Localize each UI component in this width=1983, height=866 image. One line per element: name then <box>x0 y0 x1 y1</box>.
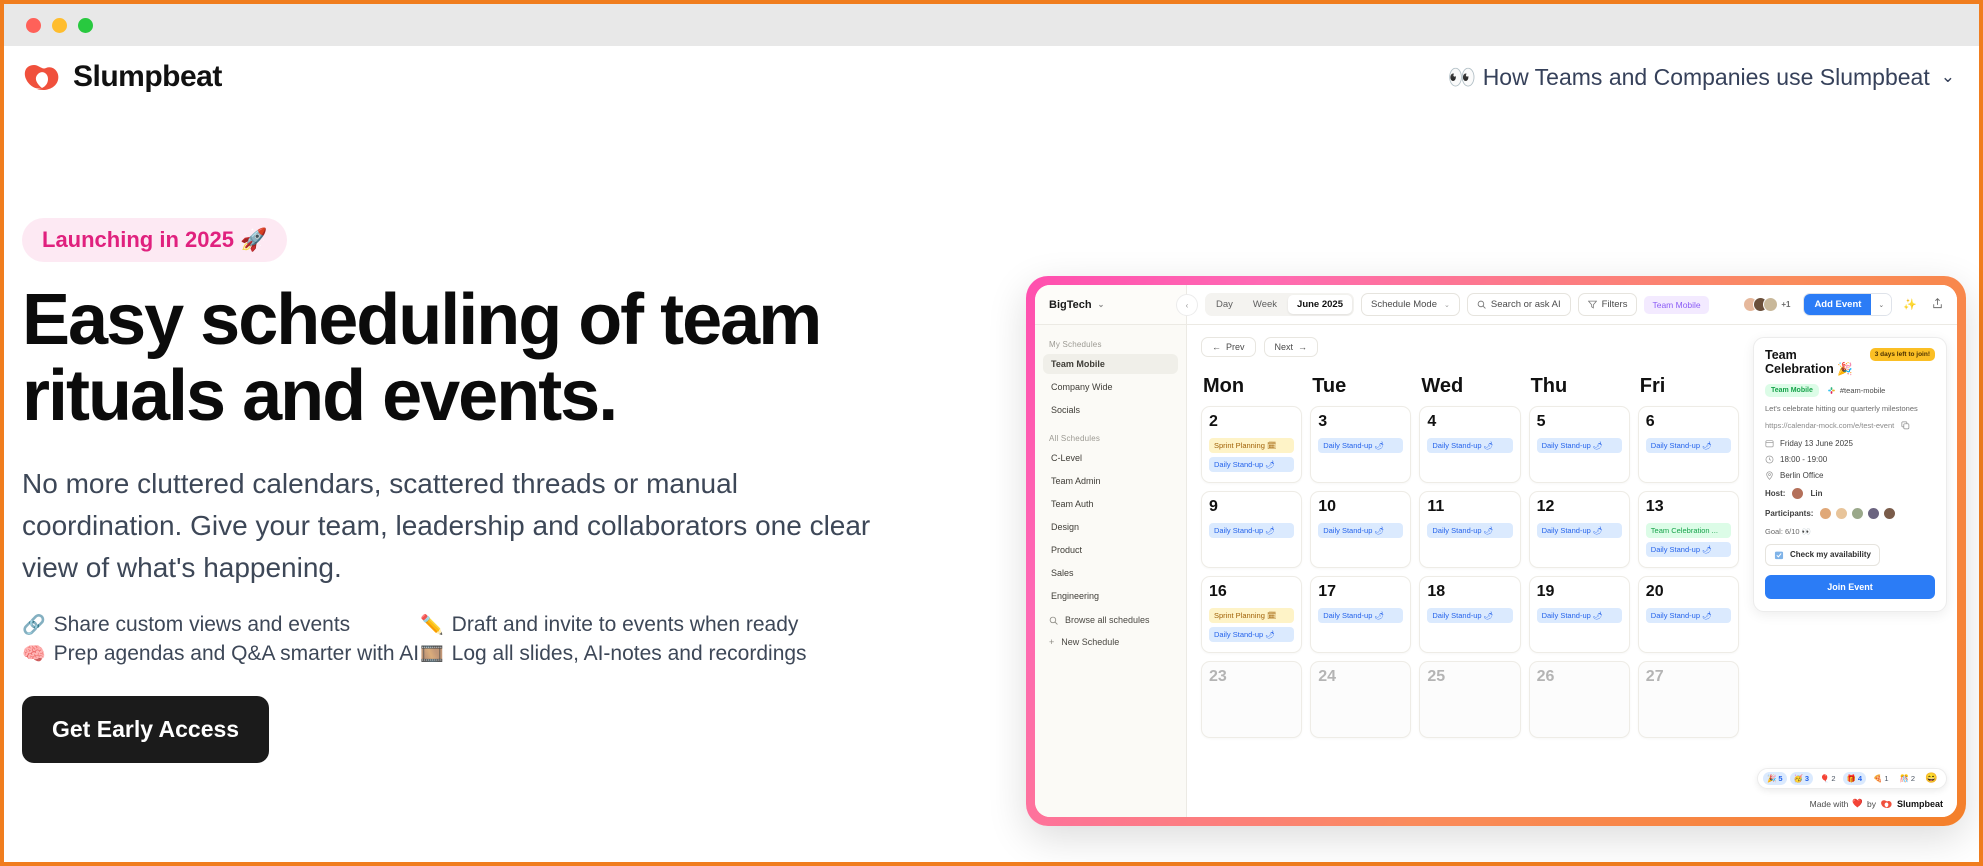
next-button[interactable]: Next → <box>1264 337 1319 357</box>
calendar-event-chip[interactable]: Daily Stand-up 🌶 <box>1646 608 1731 623</box>
made-with-by: by <box>1867 799 1876 809</box>
search-placeholder: Search or ask AI <box>1491 299 1561 310</box>
calendar-event-chip[interactable]: Daily Stand-up 🌶 <box>1646 438 1731 453</box>
calendar-event-chip[interactable]: Team Celebration ... <box>1646 523 1731 538</box>
app-body: My Schedules Team Mobile Company Wide So… <box>1035 325 1957 817</box>
calendar-event-chip[interactable]: Daily Stand-up 🌶 <box>1427 608 1512 623</box>
upload-icon <box>1932 298 1943 309</box>
next-label: Next <box>1275 342 1294 352</box>
prev-label: Prev <box>1226 342 1245 352</box>
feature-label: Prep agendas and Q&A smarter with AI <box>54 642 419 666</box>
reaction-emoji-icon: 🎉 <box>1767 774 1776 783</box>
sidebar-item-product[interactable]: Product <box>1043 540 1178 560</box>
calendar-day-cell[interactable]: 26 <box>1529 661 1630 738</box>
event-time: 18:00 - 19:00 <box>1780 455 1827 464</box>
day-number: 26 <box>1537 669 1622 685</box>
calendar-grid: ← Prev Next → Mon Tue Wed Thu Fri <box>1187 325 1749 817</box>
event-title-row: Team Celebration 🎉 3 days left to join! <box>1765 348 1935 377</box>
check-availability-label: Check my availability <box>1790 550 1871 559</box>
made-with-brand: Slumpbeat <box>1897 799 1943 809</box>
feature-label: Draft and invite to events when ready <box>452 613 799 637</box>
sidebar-item-team-mobile[interactable]: Team Mobile <box>1043 354 1178 374</box>
chevron-down-icon[interactable]: ⌄ <box>1871 294 1891 315</box>
calendar-day-cell[interactable]: 3Daily Stand-up 🌶 <box>1310 406 1411 483</box>
host-name: Lin <box>1810 489 1822 498</box>
day-number: 11 <box>1427 499 1512 515</box>
arrow-left-icon: ← <box>1212 342 1221 352</box>
page-title: Easy scheduling of team rituals and even… <box>22 282 952 435</box>
chevron-down-icon: ⌄ <box>1444 301 1450 309</box>
host-label: Host: <box>1765 489 1785 498</box>
day-number: 12 <box>1537 499 1622 515</box>
reaction-count: 2 <box>1911 774 1915 783</box>
calendar-event-chip[interactable]: Daily Stand-up 🌶 <box>1537 608 1622 623</box>
reaction-chip[interactable]: 🥳3 <box>1790 772 1814 785</box>
calendar-event-chip[interactable]: Daily Stand-up 🌶 <box>1209 523 1294 538</box>
slumpbeat-logo-icon <box>1880 799 1893 809</box>
day-number: 24 <box>1318 669 1403 685</box>
calendar-event-chip[interactable]: Daily Stand-up 🌶 <box>1537 523 1622 538</box>
reaction-chip[interactable]: 🎈2 <box>1816 772 1840 785</box>
calendar-day-cell[interactable]: 24 <box>1310 661 1411 738</box>
participants-label: Participants: <box>1765 509 1813 518</box>
header-nav-link[interactable]: 👀 How Teams and Companies use Slumpbeat … <box>1448 64 1955 91</box>
list-item: 🧠 Prep agendas and Q&A smarter with AI <box>22 642 412 666</box>
event-date: Friday 13 June 2025 <box>1780 439 1853 448</box>
made-with-prefix: Made with <box>1810 799 1849 809</box>
avatar <box>1791 487 1804 500</box>
feature-list: 🔗 Share custom views and events ✏️ Draft… <box>22 613 1004 666</box>
calendar-day-cell[interactable]: 27 <box>1638 661 1739 738</box>
calendar-day-cell[interactable]: 20Daily Stand-up 🌶 <box>1638 576 1739 653</box>
reaction-emoji-icon: 🍕 <box>1873 774 1882 783</box>
calendar-check-icon <box>1774 550 1784 560</box>
chevron-down-icon: ⌄ <box>1941 67 1955 87</box>
calendar-day-cell[interactable]: 5Daily Stand-up 🌶 <box>1529 406 1630 483</box>
location-pin-icon <box>1765 471 1774 480</box>
calendar-week-row: 2Sprint Planning 🗓Daily Stand-up 🌶3Daily… <box>1201 406 1739 483</box>
maximize-window-icon[interactable] <box>78 18 93 33</box>
calendar-event-chip[interactable]: Daily Stand-up 🌶 <box>1318 608 1403 623</box>
day-number: 4 <box>1427 414 1512 430</box>
calendar-day-cell[interactable]: 25 <box>1419 661 1520 738</box>
sidebar-item-sales[interactable]: Sales <box>1043 563 1178 583</box>
event-link[interactable]: https://calendar-mock.com/e/test-event <box>1765 421 1894 430</box>
share-upload-icon[interactable] <box>1928 298 1947 312</box>
calendar-event-chip[interactable]: Daily Stand-up 🌶 <box>1427 438 1512 453</box>
day-number: 5 <box>1537 414 1622 430</box>
reaction-emoji-icon: 🎊 <box>1900 774 1909 783</box>
avatar <box>1763 297 1778 312</box>
event-detail-panel: Team Celebration 🎉 3 days left to join! … <box>1749 325 1957 817</box>
event-time-row: 18:00 - 19:00 <box>1765 455 1935 464</box>
search-icon <box>1049 616 1058 625</box>
reaction-emoji-icon: 🥳 <box>1794 774 1803 783</box>
clock-icon <box>1765 455 1774 464</box>
sidebar-group-my-schedules-label: My Schedules <box>1043 334 1178 354</box>
day-number: 23 <box>1209 669 1294 685</box>
day-name-row: Mon Tue Wed Thu Fri <box>1201 375 1739 406</box>
event-goal: Goal: 6/10 👀 <box>1765 527 1935 536</box>
calendar-icon <box>1765 439 1774 448</box>
day-number: 20 <box>1646 584 1731 600</box>
slack-icon <box>1827 386 1836 395</box>
hero-left-column: Launching in 2025 🚀 Easy scheduling of t… <box>4 108 1004 763</box>
day-number: 25 <box>1427 669 1512 685</box>
event-link-row: https://calendar-mock.com/e/test-event <box>1765 421 1935 430</box>
avatar <box>1851 507 1864 520</box>
reaction-count: 4 <box>1858 774 1862 783</box>
day-number: 2 <box>1209 414 1294 430</box>
calendar-week-row: 9Daily Stand-up 🌶10Daily Stand-up 🌶11Dai… <box>1201 491 1739 568</box>
day-name-wed: Wed <box>1419 375 1520 398</box>
reaction-chip[interactable]: 🎉5 <box>1763 772 1787 785</box>
app-mockup-frame: BigTech ⌄ ‹ Day Week June 2025 Schedule … <box>1026 276 1966 826</box>
calendar-day-cell[interactable]: 12Daily Stand-up 🌶 <box>1529 491 1630 568</box>
avatar <box>1867 507 1880 520</box>
collapse-sidebar-button[interactable]: ‹ <box>1176 294 1198 316</box>
calendar-day-cell[interactable]: 19Daily Stand-up 🌶 <box>1529 576 1630 653</box>
brain-icon: 🧠 <box>22 642 46 666</box>
sidebar-item-design[interactable]: Design <box>1043 517 1178 537</box>
reaction-emoji-icon: 🎁 <box>1847 774 1856 783</box>
browse-all-schedules-button[interactable]: Browse all schedules <box>1043 609 1178 631</box>
day-number: 13 <box>1646 499 1731 515</box>
page-root: { "window": { "dots": ["close", "minimiz… <box>0 0 1983 866</box>
event-title: Team Celebration 🎉 <box>1765 348 1864 377</box>
search-input[interactable]: Search or ask AI <box>1467 293 1571 316</box>
reaction-chip[interactable]: 🎊2 <box>1896 772 1920 785</box>
schedule-mode-label: Schedule Mode <box>1371 299 1437 310</box>
view-mode-tabs: Day Week June 2025 <box>1205 293 1354 316</box>
sidebar-item-company-wide[interactable]: Company Wide <box>1043 377 1178 397</box>
arrow-right-icon: → <box>1298 342 1307 352</box>
new-schedule-button[interactable]: + New Schedule <box>1043 631 1178 653</box>
day-number: 19 <box>1537 584 1622 600</box>
day-number: 16 <box>1209 584 1294 600</box>
day-name-mon: Mon <box>1201 375 1302 398</box>
filter-icon <box>1588 300 1597 309</box>
calendar-day-cell[interactable]: 11Daily Stand-up 🌶 <box>1419 491 1520 568</box>
reaction-chip[interactable]: 🎁4 <box>1843 772 1867 785</box>
team-filter-chip[interactable]: Team Mobile <box>1644 296 1708 314</box>
feature-label: Log all slides, AI-notes and recordings <box>452 642 807 666</box>
app-toolbar: BigTech ⌄ ‹ Day Week June 2025 Schedule … <box>1035 285 1957 325</box>
join-event-button[interactable]: Join Event <box>1765 575 1935 599</box>
tab-week[interactable]: Week <box>1244 295 1286 314</box>
heart-icon: ❤️ <box>1852 798 1863 809</box>
sidebar-item-engineering[interactable]: Engineering <box>1043 586 1178 606</box>
plus-icon: + <box>1049 637 1054 647</box>
prev-button[interactable]: ← Prev <box>1201 337 1256 357</box>
calendar-day-cell[interactable]: 2Sprint Planning 🗓Daily Stand-up 🌶 <box>1201 406 1302 483</box>
calendar-day-cell[interactable]: 18Daily Stand-up 🌶 <box>1419 576 1520 653</box>
browse-label: Browse all schedules <box>1065 615 1150 625</box>
calendar-day-cell[interactable]: 13Team Celebration ...Daily Stand-up 🌶 <box>1638 491 1739 568</box>
avatar <box>1835 507 1848 520</box>
day-number: 27 <box>1646 669 1731 685</box>
calendar-weeks: 2Sprint Planning 🗓Daily Stand-up 🌶3Daily… <box>1201 406 1739 738</box>
sparkle-icon[interactable]: ✨ <box>1899 298 1921 311</box>
app-mockup: BigTech ⌄ ‹ Day Week June 2025 Schedule … <box>1035 285 1957 817</box>
film-frames-icon: 🎞️ <box>420 642 444 666</box>
filters-label: Filters <box>1602 299 1628 310</box>
calendar-day-cell[interactable]: 6Daily Stand-up 🌶 <box>1638 406 1739 483</box>
day-name-fri: Fri <box>1638 375 1739 398</box>
calendar-event-chip[interactable]: Daily Stand-up 🌶 <box>1209 627 1294 642</box>
get-early-access-button[interactable]: Get Early Access <box>22 696 269 763</box>
day-number: 17 <box>1318 584 1403 600</box>
day-number: 9 <box>1209 499 1294 515</box>
app-sidebar: My Schedules Team Mobile Company Wide So… <box>1035 325 1187 817</box>
event-description: Let's celebrate hitting our quarterly mi… <box>1765 404 1935 414</box>
tab-day[interactable]: Day <box>1207 295 1242 314</box>
reaction-bar: 🎉5🥳3🎈2🎁4🍕1🎊2😄 <box>1757 768 1947 789</box>
chevron-down-icon: ⌄ <box>1098 300 1105 309</box>
calendar-day-cell[interactable]: 10Daily Stand-up 🌶 <box>1310 491 1411 568</box>
sidebar-item-team-admin[interactable]: Team Admin <box>1043 471 1178 491</box>
list-item: ✏️ Draft and invite to events when ready <box>420 613 1004 637</box>
link-icon: 🔗 <box>22 613 46 637</box>
window-titlebar <box>4 4 1979 46</box>
add-event-group: Add Event ⌄ <box>1803 293 1892 316</box>
sidebar-group-all-schedules-label: All Schedules <box>1043 428 1178 448</box>
site-header: Slumpbeat 👀 How Teams and Companies use … <box>4 46 1979 108</box>
made-with-footer: Made with ❤️ by Slumpbeat <box>1810 798 1943 809</box>
search-icon <box>1477 300 1486 309</box>
new-schedule-label: New Schedule <box>1061 637 1119 647</box>
add-reaction-button[interactable]: 😄 <box>1922 772 1940 785</box>
tab-month[interactable]: June 2025 <box>1288 295 1352 314</box>
calendar-event-chip[interactable]: Daily Stand-up 🌶 <box>1318 523 1403 538</box>
event-participants-row: Participants: <box>1765 507 1935 520</box>
app-main: ← Prev Next → Mon Tue Wed Thu Fri <box>1187 325 1957 817</box>
sidebar-item-c-level[interactable]: C-Level <box>1043 448 1178 468</box>
day-name-thu: Thu <box>1529 375 1630 398</box>
calendar-event-chip[interactable]: Daily Stand-up 🌶 <box>1646 542 1731 557</box>
minimize-window-icon[interactable] <box>52 18 67 33</box>
avatar <box>1819 507 1832 520</box>
add-event-button[interactable]: Add Event <box>1804 294 1871 315</box>
status-badge: 3 days left to join! <box>1870 348 1935 361</box>
calendar-day-cell[interactable]: 4Daily Stand-up 🌶 <box>1419 406 1520 483</box>
day-number: 10 <box>1318 499 1403 515</box>
schedule-mode-dropdown[interactable]: Schedule Mode ⌄ <box>1361 293 1460 316</box>
hero-subtitle: No more cluttered calendars, scattered t… <box>22 463 882 589</box>
reaction-count: 5 <box>1778 774 1782 783</box>
header-nav-label: 👀 How Teams and Companies use Slumpbeat <box>1448 64 1930 91</box>
event-detail-card: Team Celebration 🎉 3 days left to join! … <box>1753 337 1947 612</box>
event-location-row: Berlin Office <box>1765 471 1935 480</box>
calendar-event-chip[interactable]: Sprint Planning 🗓 <box>1209 438 1294 453</box>
attendee-avatars[interactable]: +1 <box>1743 297 1790 312</box>
org-name: BigTech <box>1049 299 1092 311</box>
calendar-week-row: 16Sprint Planning 🗓Daily Stand-up 🌶17Dai… <box>1201 576 1739 653</box>
event-tags: Team Mobile #team-mobile <box>1765 384 1935 397</box>
avatar <box>1883 507 1896 520</box>
sidebar-item-team-auth[interactable]: Team Auth <box>1043 494 1178 514</box>
calendar-week-row: 2324252627 <box>1201 661 1739 738</box>
calendar-day-cell[interactable]: 17Daily Stand-up 🌶 <box>1310 576 1411 653</box>
reaction-chip[interactable]: 🍕1 <box>1869 772 1893 785</box>
calendar-event-chip[interactable]: Daily Stand-up 🌶 <box>1318 438 1403 453</box>
toolbar-controls: ‹ Day Week June 2025 Schedule Mode ⌄ Sea… <box>1187 285 1957 324</box>
filters-button[interactable]: Filters <box>1578 293 1638 316</box>
reaction-count: 2 <box>1831 774 1835 783</box>
participant-avatars[interactable] <box>1819 507 1896 520</box>
calendar-event-chip[interactable]: Daily Stand-up 🌶 <box>1427 523 1512 538</box>
reaction-emoji-icon: 🎈 <box>1820 774 1829 783</box>
event-location: Berlin Office <box>1780 471 1823 480</box>
calendar-day-cell[interactable]: 23 <box>1201 661 1302 738</box>
reaction-count: 1 <box>1884 774 1888 783</box>
copy-icon[interactable] <box>1901 421 1910 430</box>
brand-name: Slumpbeat <box>73 60 222 94</box>
calendar-event-chip[interactable]: Daily Stand-up 🌶 <box>1537 438 1622 453</box>
slack-channel-label: #team-mobile <box>1840 386 1885 395</box>
avatar-overflow-count: +1 <box>1781 300 1790 309</box>
calendar-event-chip[interactable]: Daily Stand-up 🌶 <box>1209 457 1294 472</box>
day-number: 6 <box>1646 414 1731 430</box>
calendar-event-chip[interactable]: Sprint Planning 🗓 <box>1209 608 1294 623</box>
day-name-tue: Tue <box>1310 375 1411 398</box>
check-availability-button[interactable]: Check my availability <box>1765 544 1880 566</box>
launch-badge: Launching in 2025 🚀 <box>22 218 287 262</box>
sidebar-item-socials[interactable]: Socials <box>1043 400 1178 420</box>
brand-logo[interactable]: Slumpbeat <box>22 60 222 94</box>
pencil-icon: ✏️ <box>420 613 444 637</box>
close-window-icon[interactable] <box>26 18 41 33</box>
calendar-day-cell[interactable]: 9Daily Stand-up 🌶 <box>1201 491 1302 568</box>
event-team-chip[interactable]: Team Mobile <box>1765 384 1819 397</box>
feature-label: Share custom views and events <box>54 613 350 637</box>
slumpbeat-logo-icon <box>22 61 62 93</box>
list-item: 🎞️ Log all slides, AI-notes and recordin… <box>420 642 1004 666</box>
list-item: 🔗 Share custom views and events <box>22 613 412 637</box>
org-switcher[interactable]: BigTech ⌄ <box>1035 285 1187 324</box>
day-number: 18 <box>1427 584 1512 600</box>
slack-channel-link[interactable]: #team-mobile <box>1827 386 1885 395</box>
calendar-day-cell[interactable]: 16Sprint Planning 🗓Daily Stand-up 🌶 <box>1201 576 1302 653</box>
event-date-row: Friday 13 June 2025 <box>1765 439 1935 448</box>
event-host-row: Host: Lin <box>1765 487 1935 500</box>
reaction-count: 3 <box>1805 774 1809 783</box>
calendar-nav: ← Prev Next → <box>1201 337 1739 357</box>
day-number: 3 <box>1318 414 1403 430</box>
